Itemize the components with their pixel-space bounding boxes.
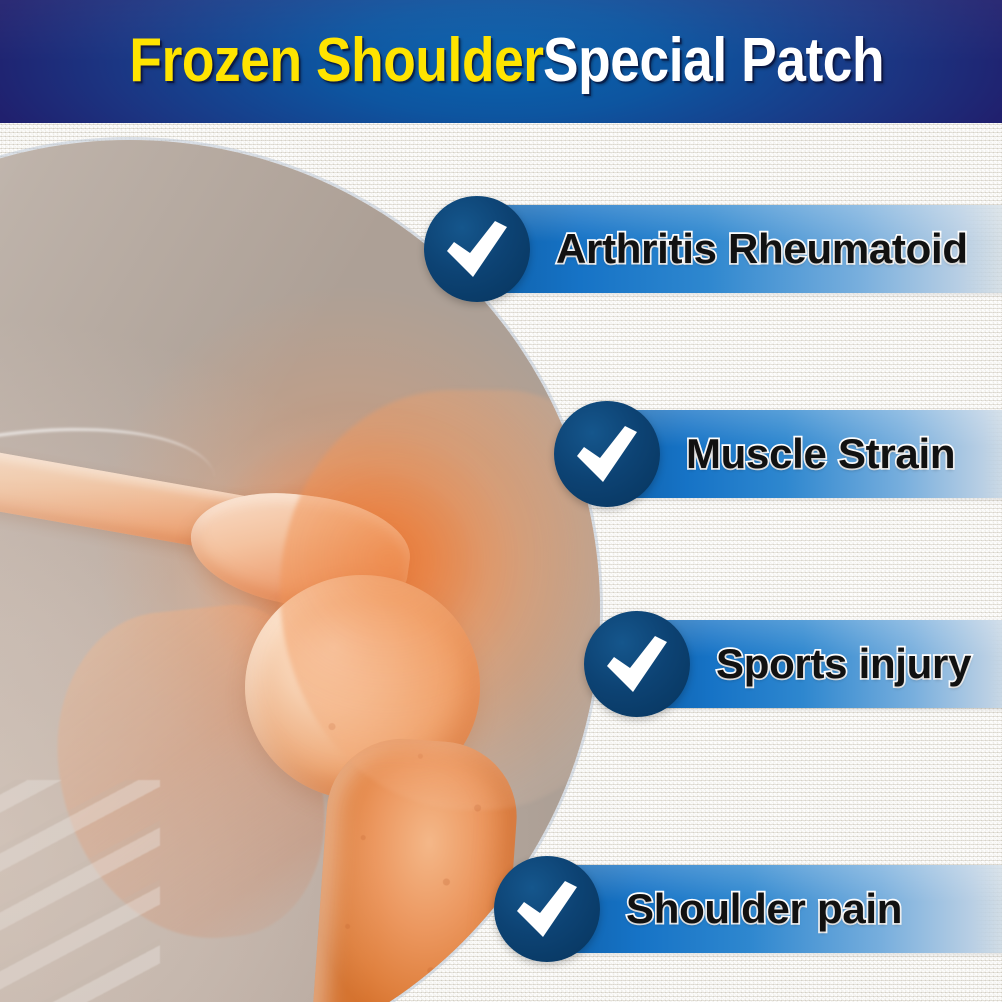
check-badge xyxy=(424,196,530,302)
benefit-label: Sports injury xyxy=(716,643,971,685)
check-badge xyxy=(494,856,600,962)
product-advertisement-poster: Frozen Shoulder Special Patch Arthritis … xyxy=(0,0,1002,1002)
check-badge xyxy=(554,401,660,507)
page-title: Frozen Shoulder Special Patch xyxy=(0,29,1002,91)
page-title-rest: Special Patch xyxy=(543,29,884,91)
list-item[interactable]: Muscle Strain xyxy=(554,402,955,506)
list-item[interactable]: Arthritis Rheumatoid xyxy=(424,197,968,301)
benefit-label: Muscle Strain xyxy=(686,433,955,475)
check-icon xyxy=(604,633,670,695)
list-item[interactable]: Sports injury xyxy=(584,612,971,716)
check-icon xyxy=(514,878,580,940)
check-icon xyxy=(444,218,510,280)
benefit-label: Arthritis Rheumatoid xyxy=(556,228,968,270)
list-item[interactable]: Shoulder pain xyxy=(494,857,902,961)
header-banner: Frozen Shoulder Special Patch xyxy=(0,0,1002,123)
benefit-label: Shoulder pain xyxy=(626,888,902,930)
check-badge xyxy=(584,611,690,717)
check-icon xyxy=(574,423,640,485)
page-title-highlight: Frozen Shoulder xyxy=(129,29,543,91)
